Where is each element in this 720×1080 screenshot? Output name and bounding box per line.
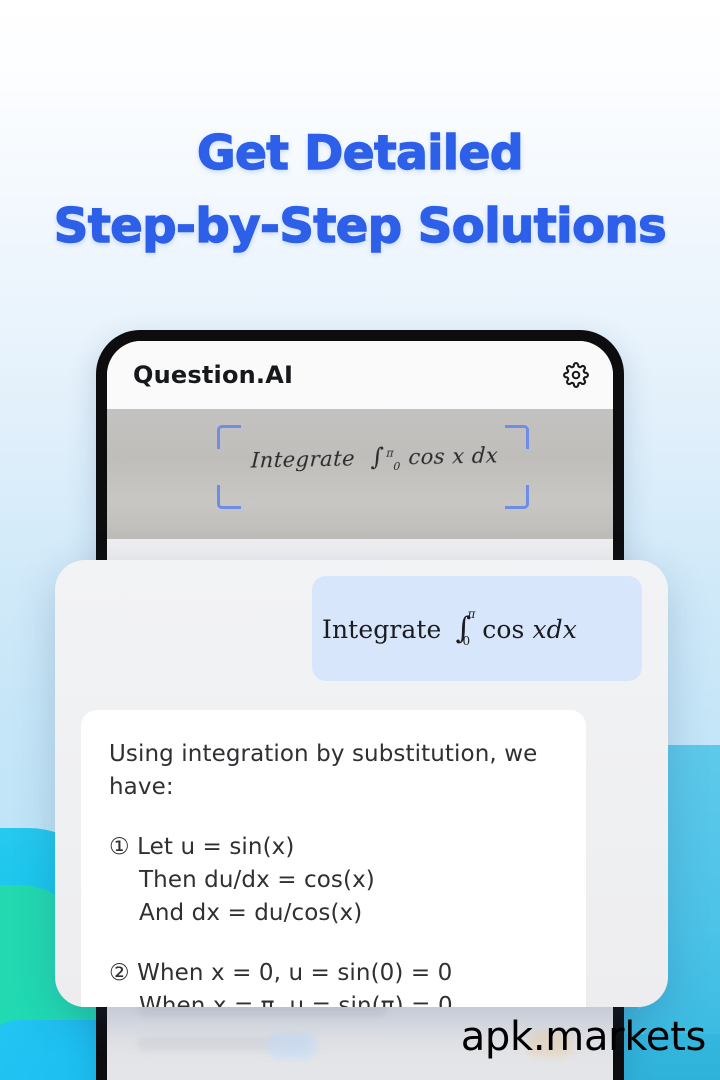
crop-corner-top-right-icon xyxy=(505,425,529,449)
step-marker: ① xyxy=(109,834,130,860)
headline-line-1: Get Detailed xyxy=(0,118,720,191)
crop-corner-bottom-right-icon xyxy=(505,485,529,509)
question-integral: ∫ π 0 xyxy=(455,611,471,646)
integral-upper-limit: π xyxy=(467,607,475,621)
gear-icon xyxy=(563,362,589,388)
watermark: apk.markets xyxy=(461,1014,706,1060)
answer-step: ① Let u = sin(x) Then du/dx = cos(x) And… xyxy=(109,831,558,931)
crop-corner-top-left-icon xyxy=(217,425,241,449)
handwritten-question: Integrate∫π0 cos x dx xyxy=(250,440,499,475)
answer-card: Using integration by substitution, we ha… xyxy=(81,710,586,1007)
handwritten-prefix: Integrate xyxy=(250,446,355,472)
app-bar: Question.AI xyxy=(107,341,613,409)
question-body-italic: xdx xyxy=(532,615,577,644)
answer-step: ② When x = 0, u = sin(0) = 0 When x = π,… xyxy=(109,957,558,1007)
promo-screenshot: cosθ = sinα ∫ sin x dx ∑ f(x) = ∫ x² + y… xyxy=(0,0,720,1080)
step-marker: ② xyxy=(109,960,130,986)
step-line: Then du/dx = cos(x) xyxy=(109,864,558,897)
ghost-chip xyxy=(267,1033,317,1059)
settings-button[interactable] xyxy=(563,362,589,388)
answer-overlay-card: Integrate ∫ π 0 cos xdx Using integratio… xyxy=(55,560,668,1007)
step-line: And dx = du/cos(x) xyxy=(109,897,558,930)
page-title: Get Detailed Step-by-Step Solutions xyxy=(0,118,720,264)
camera-scan-area: Integrate∫π0 cos x dx xyxy=(107,409,613,539)
question-body: cos xyxy=(482,615,532,644)
step-line: Let u = sin(x) xyxy=(137,834,294,860)
question-prefix: Integrate xyxy=(322,615,441,644)
app-title: Question.AI xyxy=(133,361,293,389)
handwritten-integral-sign: ∫ xyxy=(370,443,384,471)
answer-lead-text: Using integration by substitution, we ha… xyxy=(109,738,558,805)
question-bubble: Integrate ∫ π 0 cos xdx xyxy=(312,576,642,681)
handwritten-body: cos x dx xyxy=(408,443,499,469)
step-line: When x = 0, u = sin(0) = 0 xyxy=(137,960,452,986)
handwritten-upper-limit: π xyxy=(386,447,394,460)
crop-corner-bottom-left-icon xyxy=(217,485,241,509)
handwritten-lower-limit: 0 xyxy=(393,460,401,473)
headline-line-2: Step-by-Step Solutions xyxy=(0,191,720,264)
scan-crop-frame[interactable]: Integrate∫π0 cos x dx xyxy=(217,425,529,509)
step-line: When x = π, u = sin(π) = 0 xyxy=(109,990,558,1007)
question-text: Integrate ∫ π 0 cos xdx xyxy=(322,611,577,646)
integral-lower-limit: 0 xyxy=(462,634,470,648)
